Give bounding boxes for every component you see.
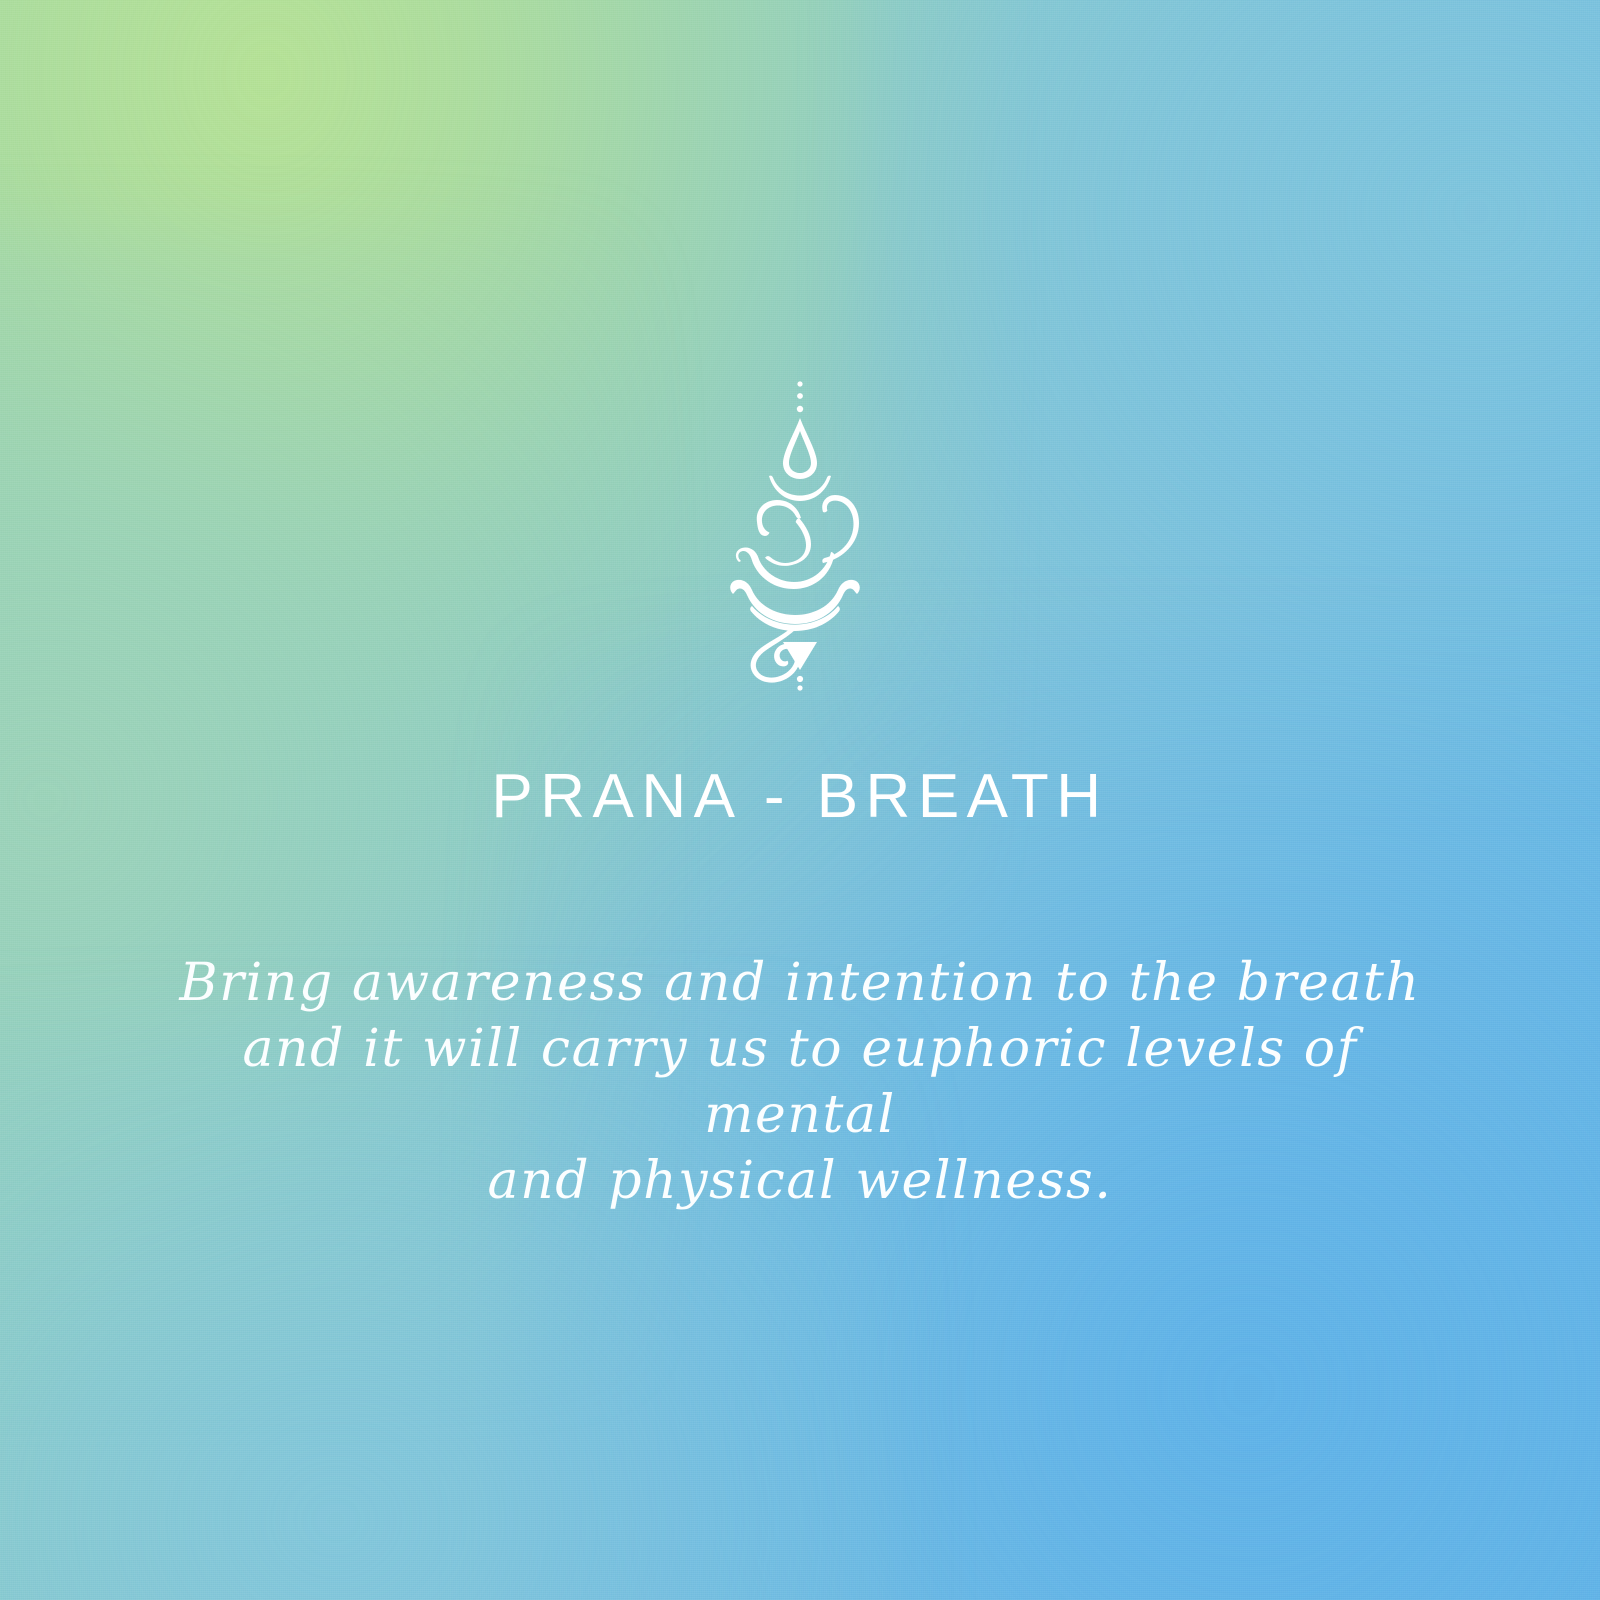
quote-text: Bring awareness and intention to the bre…: [165, 950, 1435, 1214]
wellness-quote-card: PRANA - BREATH Bring awareness and inten…: [0, 0, 1600, 1600]
quote-line-3: and physical wellness.: [165, 1148, 1435, 1214]
quote-line-2: and it will carry us to euphoric levels …: [165, 1016, 1435, 1148]
om-unalome-icon: [695, 372, 905, 692]
quote-line-1: Bring awareness and intention to the bre…: [165, 950, 1435, 1016]
card-content: PRANA - BREATH Bring awareness and inten…: [0, 0, 1600, 1600]
page-title: PRANA - BREATH: [491, 766, 1108, 828]
